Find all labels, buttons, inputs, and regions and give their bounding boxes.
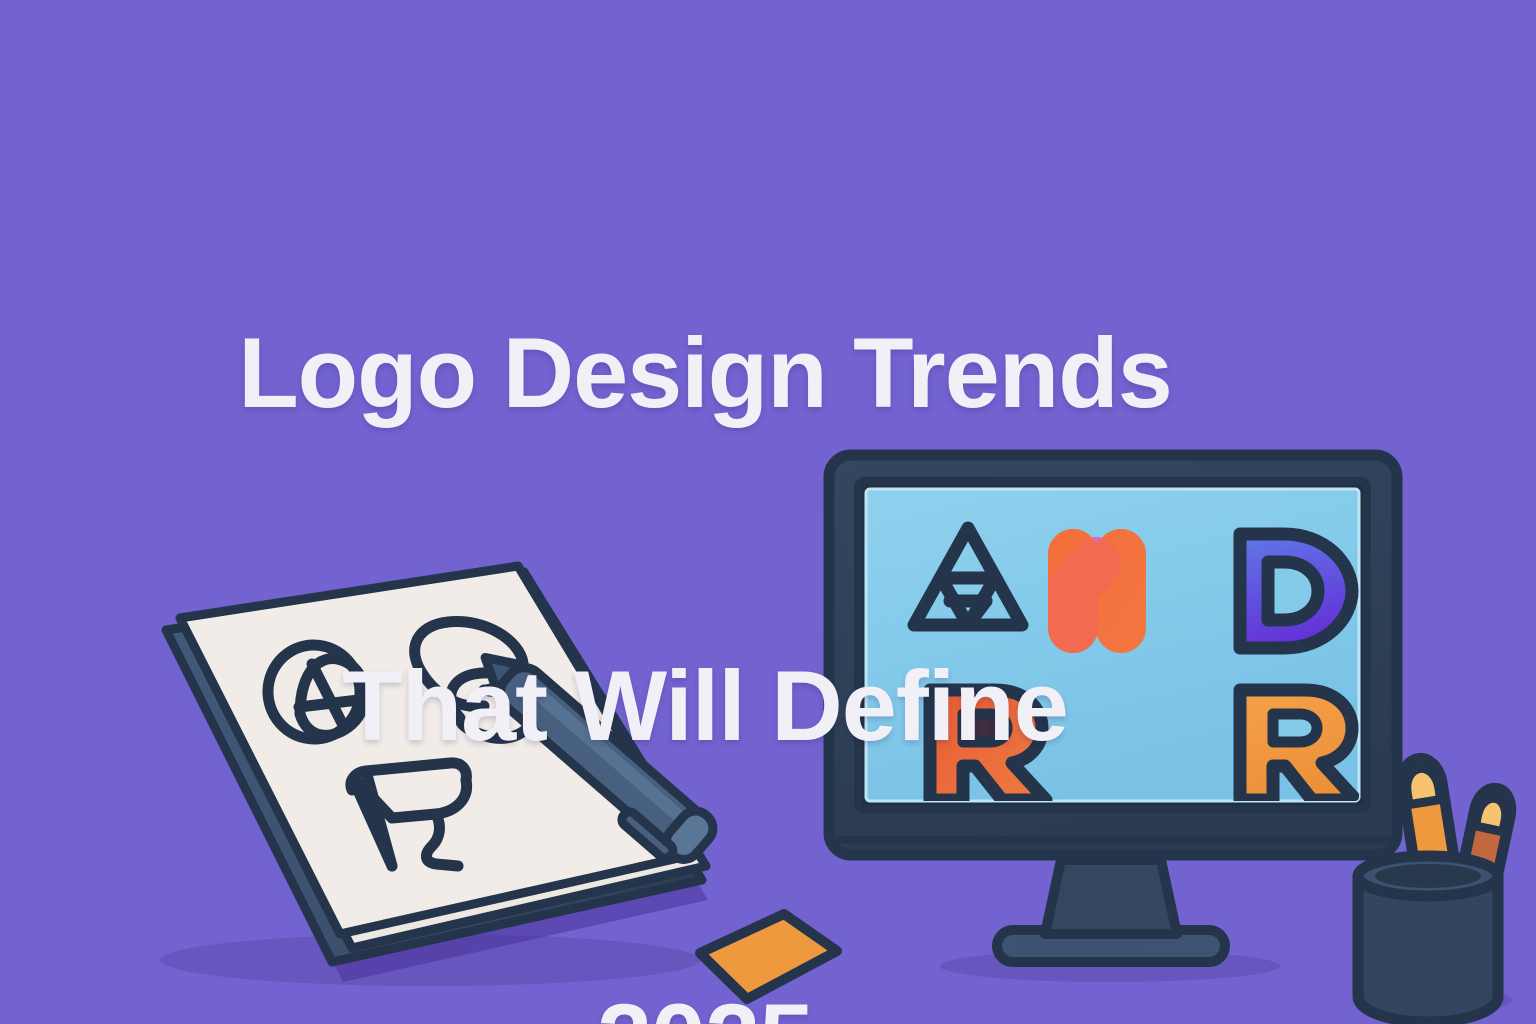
title-line-1: Logo Design Trends	[140, 317, 1270, 428]
title-line-2: That Will Define	[140, 650, 1270, 761]
title-line-3: 2025	[140, 983, 1270, 1024]
poster-canvas: Logo Design Trends That Will Define 2025	[0, 0, 1536, 1024]
page-title: Logo Design Trends That Will Define 2025	[140, 95, 1270, 1024]
pencil-cup-opening	[1375, 864, 1481, 888]
